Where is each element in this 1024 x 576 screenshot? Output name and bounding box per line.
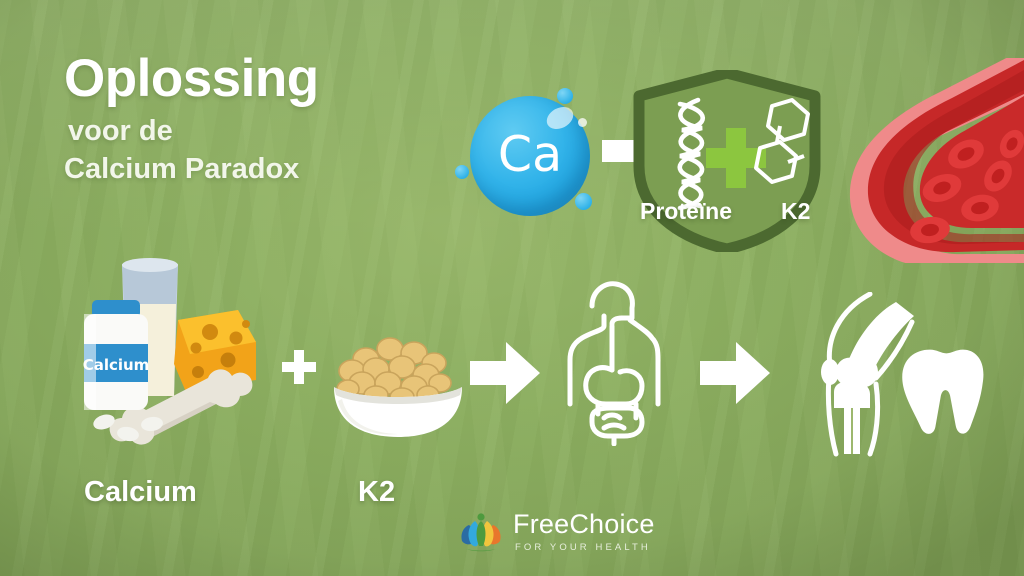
title-line-3: Calcium Paradox bbox=[64, 155, 319, 184]
protein-label: Proteïne bbox=[640, 198, 732, 225]
bubble-icon bbox=[575, 193, 592, 210]
digestive-system-icon bbox=[552, 278, 674, 446]
calcium-bottom-label: Calcium bbox=[84, 476, 197, 509]
bubble-highlight-icon bbox=[578, 118, 587, 127]
knee-joint-icon bbox=[821, 294, 914, 454]
arrow-right-icon bbox=[698, 338, 772, 408]
logo-tagline: FOR YOUR HEALTH bbox=[515, 543, 655, 553]
plus-symbol-icon bbox=[280, 348, 318, 386]
title-line-2: voor de bbox=[68, 117, 319, 146]
logo-name: FreeChoice bbox=[513, 511, 655, 538]
logo-text-block: FreeChoice FOR YOUR HEALTH bbox=[513, 511, 655, 553]
k2-bowl-illustration bbox=[318, 325, 478, 440]
calcium-sources-illustration: Calcium bbox=[70, 252, 285, 462]
bone-health-icons bbox=[800, 292, 990, 457]
k2-bottom-label: K2 bbox=[358, 476, 395, 509]
bubble-icon bbox=[455, 165, 469, 179]
svg-text:Calcium: Calcium bbox=[83, 356, 150, 374]
blood-vessel-illustration bbox=[790, 58, 1024, 263]
arrow-right-icon bbox=[468, 338, 542, 408]
bubble-icon bbox=[557, 88, 573, 104]
infographic-canvas: Oplossing voor de Calcium Paradox Ca bbox=[0, 0, 1024, 576]
lotus-mark-icon bbox=[458, 511, 504, 553]
page-title: Oplossing voor de Calcium Paradox bbox=[64, 52, 319, 184]
calcium-sphere-label: Ca bbox=[470, 96, 590, 216]
freechoice-logo[interactable]: FreeChoice FOR YOUR HEALTH bbox=[458, 506, 673, 558]
title-line-1: Oplossing bbox=[64, 52, 319, 105]
calcium-molecule-sphere: Ca bbox=[470, 96, 590, 216]
tooth-icon bbox=[902, 350, 983, 434]
calcium-bottle-icon: Calcium bbox=[83, 300, 150, 410]
